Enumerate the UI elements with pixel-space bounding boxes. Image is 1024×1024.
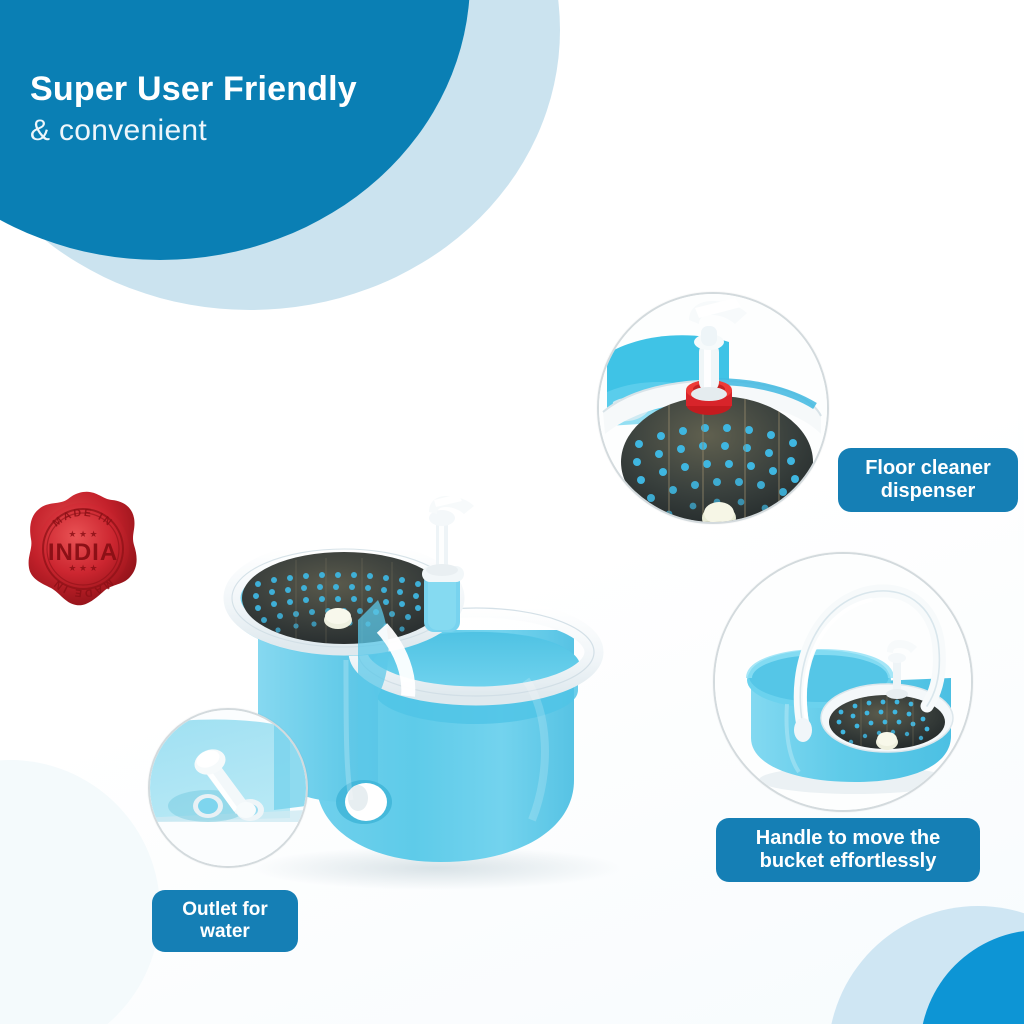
inset-dispenser-closeup [597,292,829,524]
light-blue-corner-circle-decoration [828,906,1024,1024]
inset-handle-closeup [713,552,973,812]
svg-text:★ ★ ★: ★ ★ ★ [68,529,97,539]
bright-blue-corner-circle-decoration [920,930,1024,1024]
page-title: Super User Friendly [30,72,357,108]
made-in-india-seal: MADE IN MADE IN ★ ★ ★ ★ ★ ★ INDIA [22,487,144,613]
page-subtitle: & convenient [30,112,357,150]
callout-label-floor-cleaner-dispenser[interactable]: Floor cleaner dispenser [838,448,1018,512]
bucket-wheel [336,780,392,824]
soft-corner-decoration [0,760,160,1024]
seal-center-text: INDIA [48,539,118,566]
product-feature-poster: Super User Friendly & convenient [0,0,1024,1024]
header: Super User Friendly & convenient [30,72,357,149]
light-blue-circle-decoration [0,0,560,310]
callout-label-handle-to-move[interactable]: Handle to move the bucket effortlessly [716,818,980,882]
inset-outlet-closeup [148,708,308,868]
callout-label-outlet-for-water[interactable]: Outlet for water [152,890,298,952]
